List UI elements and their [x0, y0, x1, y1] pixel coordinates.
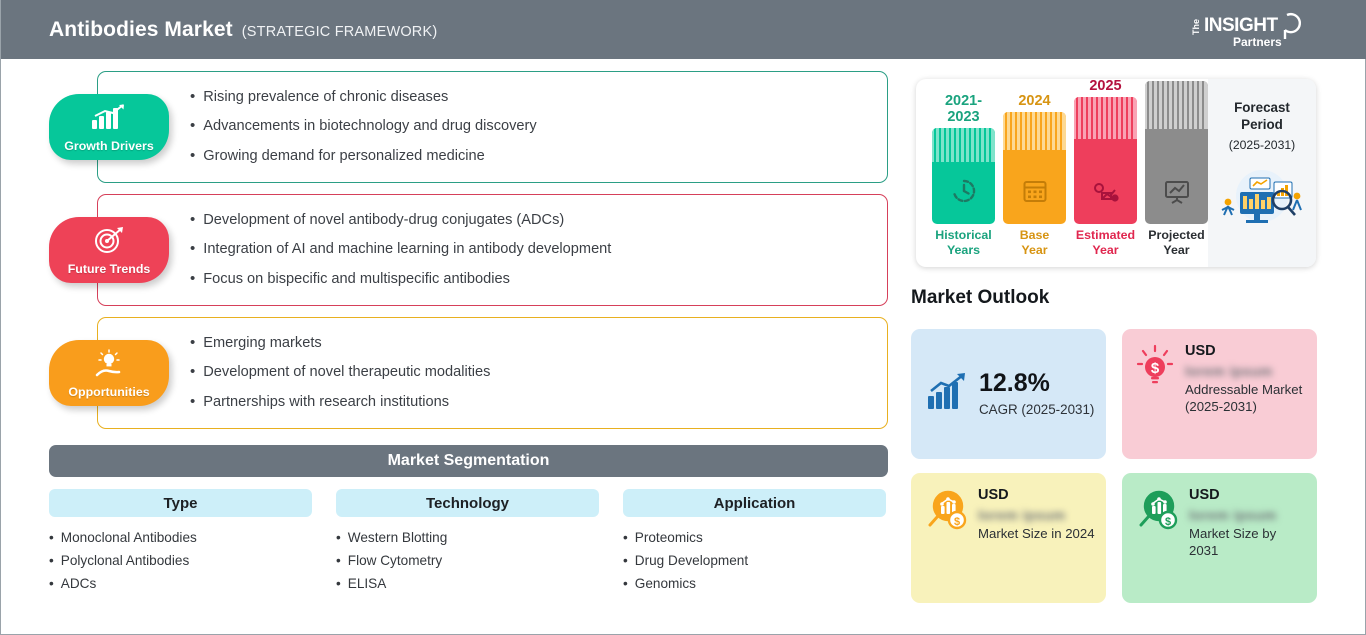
forecast-bar-projected: 2031: [1145, 79, 1208, 257]
analytics-illustration-icon: [1216, 166, 1308, 233]
bullet-item: • Integration of AI and machine learning…: [190, 241, 876, 259]
bar-chart-growth-icon: [89, 103, 129, 136]
market-outlook-title: Market Outlook: [911, 287, 1049, 309]
bar-label: Base Year: [1003, 228, 1066, 257]
card-market-size-2031: $ USD lorem ipsum Market Size by 2031: [1122, 473, 1317, 603]
size-2024-text: USD lorem ipsum Market Size in 2024: [978, 487, 1096, 603]
bullet-text: Rising prevalence of chronic diseases: [203, 89, 448, 107]
opportunities-badge[interactable]: Opportunities: [49, 340, 169, 406]
page-title: Antibodies Market: [49, 18, 233, 42]
list-item: • Proteomics: [623, 530, 886, 545]
list-item-label: Drug Development: [635, 553, 748, 568]
growth-drivers-label: Growth Drivers: [64, 139, 154, 153]
bar-stripe-pattern: [1003, 112, 1066, 150]
calendar-icon: [1021, 177, 1049, 210]
segmentation-list: • Proteomics • Drug Development • Genomi…: [623, 530, 886, 591]
chart-gear-icon: [1091, 179, 1121, 210]
bullet-dot: •: [190, 364, 195, 381]
svg-text:$: $: [1151, 360, 1160, 377]
bullet-text: Advancements in biotechnology and drug d…: [203, 118, 536, 136]
bullet-dot: •: [49, 553, 54, 568]
forecast-bars: 2021-2023: [916, 79, 1208, 267]
bullet-item: • Partnerships with research institution…: [190, 394, 876, 412]
bar-chart-arrow-icon: [925, 372, 969, 417]
forecast-bar-estimated: 2025: [1074, 79, 1137, 257]
bar-label: Projected Year: [1145, 228, 1208, 257]
card-caption: Market Size in 2024: [978, 526, 1096, 543]
list-item: • Drug Development: [623, 553, 886, 568]
list-item-label: Monoclonal Antibodies: [61, 530, 197, 545]
size-2031-content: $ USD lorem ipsum Market Size by 2031: [1122, 473, 1317, 603]
section-growth-drivers: Growth Drivers • Rising prevalence of ch…: [97, 71, 888, 183]
card-caption: Market Size by 2031: [1189, 526, 1307, 560]
bar-shape: [1145, 81, 1208, 224]
bullet-text: Development of novel antibody-drug conju…: [203, 212, 564, 230]
section-future-trends: Future Trends • Development of novel ant…: [97, 194, 888, 306]
list-item: • Polyclonal Antibodies: [49, 553, 312, 568]
bullet-item: • Focus on bispecific and multispecific …: [190, 271, 876, 289]
segmentation-column-technology: Technology • Western Blotting • Flow Cyt…: [336, 489, 599, 591]
list-item-label: Polyclonal Antibodies: [61, 553, 189, 568]
svg-text:Partners: Partners: [1233, 35, 1282, 49]
bullet-text: Development of novel therapeutic modalit…: [203, 364, 490, 382]
list-item-label: Flow Cytometry: [348, 553, 442, 568]
lightbulb-dollar-icon: $: [1134, 343, 1176, 459]
addressable-content: $ USD: [1122, 329, 1317, 459]
infographic-page: Antibodies Market (STRATEGIC FRAMEWORK) …: [0, 0, 1366, 635]
redacted-value: lorem ipsum: [1189, 507, 1307, 523]
magnifier-chart-dollar-icon: $: [1134, 487, 1180, 603]
card-cagr: 12.8% CAGR (2025-2031): [911, 329, 1106, 459]
segmentation-column-application: Application • Proteomics • Drug Developm…: [623, 489, 886, 591]
bullet-dot: •: [623, 530, 628, 545]
bar-year-label: 2025: [1074, 79, 1137, 94]
svg-text:$: $: [1165, 516, 1171, 528]
insight-partners-logo-icon: The INSIGHT Partners: [1187, 9, 1307, 51]
bar-label: Estimated Year: [1074, 228, 1137, 257]
future-trends-bullets: • Development of novel antibody-drug con…: [190, 194, 876, 306]
bar-label: Historical Years: [932, 228, 995, 257]
bullet-dot: •: [190, 89, 195, 106]
list-item-label: ELISA: [348, 576, 387, 591]
list-item-label: ADCs: [61, 576, 97, 591]
bullet-dot: •: [336, 530, 341, 545]
forecast-period-side: Forecast Period (2025-2031): [1208, 79, 1316, 267]
bullet-item: • Emerging markets: [190, 335, 876, 353]
cagr-caption: CAGR (2025-2031): [979, 402, 1094, 417]
bar-stripe-pattern: [932, 128, 995, 162]
bullet-dot: •: [190, 271, 195, 288]
svg-text:INSIGHT: INSIGHT: [1204, 15, 1278, 36]
bar-stripe-pattern: [1145, 81, 1208, 129]
segmentation-header: Type: [49, 489, 312, 517]
bullet-item: • Rising prevalence of chronic diseases: [190, 89, 876, 107]
list-item: • ADCs: [49, 576, 312, 591]
bullet-item: • Development of novel therapeutic modal…: [190, 364, 876, 382]
segmentation-header: Technology: [336, 489, 599, 517]
list-item: • Monoclonal Antibodies: [49, 530, 312, 545]
bullet-item: • Advancements in biotechnology and drug…: [190, 118, 876, 136]
size-2031-text: USD lorem ipsum Market Size by 2031: [1189, 487, 1307, 603]
size-2024-content: $ USD lorem ipsum Market Size in 2024: [911, 473, 1106, 603]
lightbulb-hand-icon: [89, 349, 129, 384]
list-item-label: Western Blotting: [348, 530, 447, 545]
segmentation-list: • Monoclonal Antibodies • Polyclonal Ant…: [49, 530, 312, 591]
clock-history-icon: [950, 177, 978, 210]
card-market-size-2024: $ USD lorem ipsum Market Size in 2024: [911, 473, 1106, 603]
bullet-text: Focus on bispecific and multispecific an…: [203, 271, 510, 289]
page-subtitle: (STRATEGIC FRAMEWORK): [242, 24, 438, 40]
card-caption: Addressable Market (2025-2031): [1185, 382, 1307, 416]
market-outlook-cards: 12.8% CAGR (2025-2031) $: [911, 329, 1331, 603]
bar-year-label: 2024: [1003, 93, 1066, 109]
bullet-dot: •: [190, 148, 195, 165]
growth-drivers-badge[interactable]: Growth Drivers: [49, 94, 169, 160]
bullet-dot: •: [190, 335, 195, 352]
segmentation-header: Application: [623, 489, 886, 517]
segmentation-list: • Western Blotting • Flow Cytometry • EL…: [336, 530, 599, 591]
bullet-dot: •: [49, 576, 54, 591]
bullet-dot: •: [190, 394, 195, 411]
list-item-label: Proteomics: [635, 530, 703, 545]
forecast-period-range: (2025-2031): [1229, 138, 1295, 152]
section-opportunities: Opportunities • Emerging markets • Devel…: [97, 317, 888, 429]
bullet-text: Emerging markets: [203, 335, 321, 353]
segmentation-columns: Type • Monoclonal Antibodies • Polyclona…: [49, 489, 888, 591]
bullet-dot: •: [190, 212, 195, 229]
opportunities-bullets: • Emerging markets • Development of nove…: [190, 317, 876, 429]
bullet-dot: •: [623, 576, 628, 591]
right-column: 2021-2023: [901, 59, 1366, 635]
bullet-dot: •: [336, 576, 341, 591]
bullet-dot: •: [190, 241, 195, 258]
header-title-group: Antibodies Market (STRATEGIC FRAMEWORK): [49, 18, 437, 42]
list-item: • Western Blotting: [336, 530, 599, 545]
segmentation-column-type: Type • Monoclonal Antibodies • Polyclona…: [49, 489, 312, 591]
bar-year-label: 2021-2023: [932, 93, 995, 125]
opportunities-label: Opportunities: [68, 385, 149, 399]
bullet-text: Growing demand for personalized medicine: [203, 148, 485, 166]
bullet-dot: •: [190, 118, 195, 135]
redacted-value: lorem ipsum: [1185, 363, 1307, 379]
left-column: Growth Drivers • Rising prevalence of ch…: [1, 59, 901, 635]
bullet-text: Integration of AI and machine learning i…: [203, 241, 611, 259]
currency-label: USD: [1185, 343, 1307, 359]
bar-stripe-pattern: [1074, 97, 1137, 139]
presentation-icon: [1162, 179, 1192, 210]
redacted-value: lorem ipsum: [978, 507, 1096, 523]
future-trends-badge[interactable]: Future Trends: [49, 217, 169, 283]
target-dart-icon: [89, 226, 129, 259]
addressable-text: USD lorem ipsum Addressable Market (2025…: [1185, 343, 1307, 459]
bullet-dot: •: [49, 530, 54, 545]
future-trends-label: Future Trends: [68, 262, 151, 276]
bar-shape: [932, 128, 995, 224]
forecast-period-title: Forecast Period: [1234, 99, 1290, 133]
list-item: • ELISA: [336, 576, 599, 591]
page-header: Antibodies Market (STRATEGIC FRAMEWORK) …: [1, 0, 1366, 59]
forecast-bar-historical: 2021-2023: [932, 93, 995, 257]
cagr-text: 12.8% CAGR (2025-2031): [979, 371, 1094, 417]
market-segmentation-title: Market Segmentation: [49, 445, 888, 477]
currency-label: USD: [978, 487, 1096, 503]
forecast-period-card: 2021-2023: [916, 79, 1316, 267]
bullet-dot: •: [336, 553, 341, 568]
svg-text:The: The: [1191, 19, 1201, 35]
growth-drivers-bullets: • Rising prevalence of chronic diseases …: [190, 71, 876, 183]
magnifier-chart-dollar-icon: $: [923, 487, 969, 603]
bullet-dot: •: [623, 553, 628, 568]
bullet-item: • Development of novel antibody-drug con…: [190, 212, 876, 230]
list-item-label: Genomics: [635, 576, 696, 591]
bullet-item: • Growing demand for personalized medici…: [190, 148, 876, 166]
bullet-text: Partnerships with research institutions: [203, 394, 449, 412]
forecast-bar-base: 2024: [1003, 93, 1066, 257]
list-item: • Genomics: [623, 576, 886, 591]
cagr-content: 12.8% CAGR (2025-2031): [911, 329, 1106, 459]
cagr-value: 12.8%: [979, 371, 1094, 396]
bar-shape: [1074, 97, 1137, 224]
list-item: • Flow Cytometry: [336, 553, 599, 568]
bar-shape: [1003, 112, 1066, 224]
card-addressable-market: $ USD: [1122, 329, 1317, 459]
currency-label: USD: [1189, 487, 1307, 503]
svg-text:$: $: [954, 516, 960, 528]
